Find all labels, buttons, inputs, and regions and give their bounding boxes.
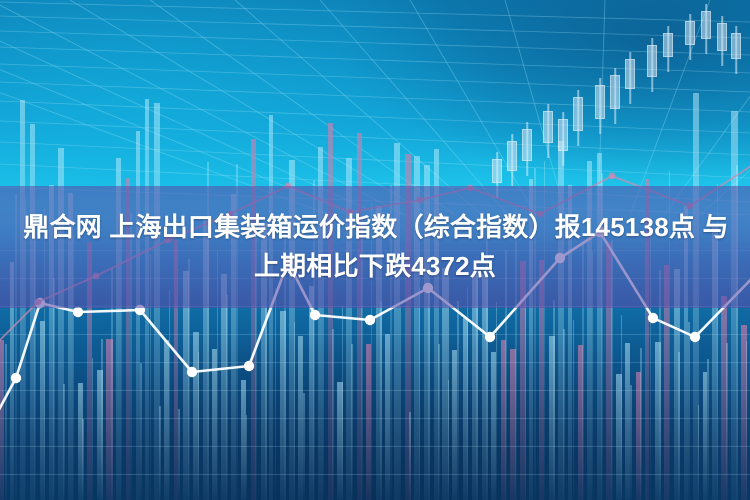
- series-point-marker: [609, 173, 616, 180]
- series-point-marker: [485, 332, 495, 342]
- headline-overlay-band: [0, 186, 750, 308]
- series-point-marker: [310, 310, 320, 320]
- series-point-marker: [365, 315, 375, 325]
- series-point-marker: [11, 373, 21, 383]
- promo-chart-image: 鼎合网 上海出口集装箱运价指数（综合指数）报145138点 与 上期相比下跌43…: [0, 0, 750, 500]
- series-point-marker: [187, 367, 197, 377]
- series-point-marker: [690, 332, 700, 342]
- series-point-marker: [648, 313, 658, 323]
- series-point-marker: [244, 361, 254, 371]
- series-point-marker: [73, 307, 83, 317]
